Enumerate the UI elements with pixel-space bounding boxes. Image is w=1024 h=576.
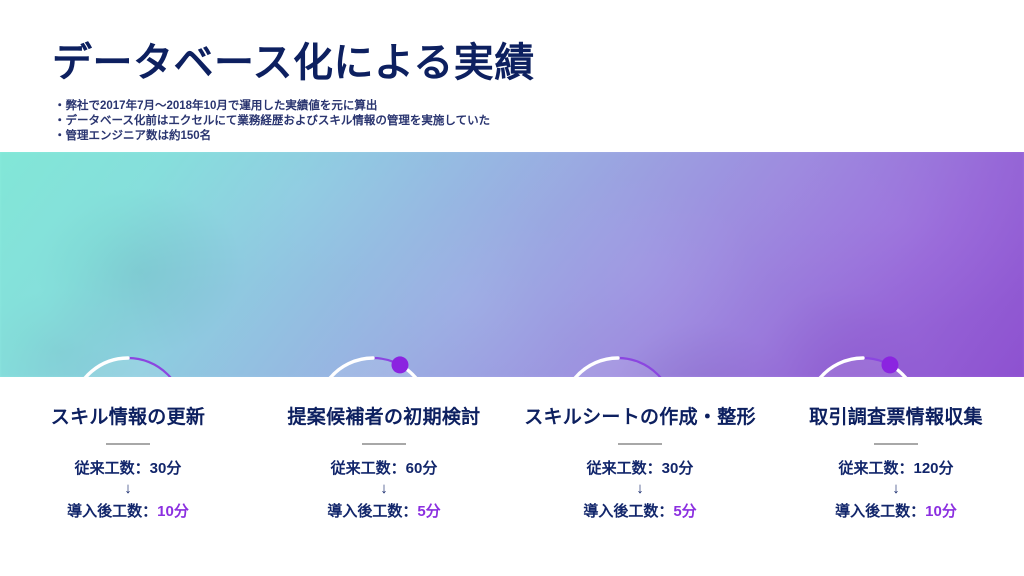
gauge-skill-update: 67% — [66, 352, 190, 377]
column-after-value: 導入後工数：10分 — [0, 500, 256, 521]
gauge-value-label: 92% — [311, 352, 435, 377]
column-after-highlight: 10分 — [157, 503, 189, 520]
column-before-value: 従来工数：30分 — [0, 457, 256, 478]
column-after-value: 導入後工数：5分 — [512, 500, 768, 521]
column-after-value: 導入後工数：10分 — [768, 500, 1024, 521]
header-bullet-list: 弊社で2017年7月～2018年10月で運用した実績値を元に算出 データベース化… — [54, 99, 490, 144]
column-after-highlight: 5分 — [673, 503, 696, 520]
column-divider — [618, 443, 662, 445]
column-after-prefix: 導入後工数： — [67, 503, 157, 520]
bullet-item: 管理エンジニア数は約150名 — [54, 129, 490, 144]
metric-column-skill-update: スキル情報の更新 従来工数：30分 ↓ 導入後工数：10分 — [0, 377, 256, 576]
column-divider — [874, 443, 918, 445]
column-before-value: 従来工数：30分 — [512, 457, 768, 478]
column-title: 提案候補者の初期検討 — [256, 402, 512, 429]
bullet-item: データベース化前はエクセルにて業務経歴およびスキル情報の管理を実施していた — [54, 114, 490, 129]
gauge-value-label: 92% — [801, 352, 925, 377]
gauge-value-label: 83% — [556, 352, 680, 377]
column-before-value: 従来工数：60分 — [256, 457, 512, 478]
metric-columns: スキル情報の更新 従来工数：30分 ↓ 導入後工数：10分 提案候補者の初期検討… — [0, 377, 1024, 576]
column-before-value: 従来工数：120分 — [768, 457, 1024, 478]
column-after-highlight: 5分 — [417, 503, 440, 520]
gauge-candidate-review: 92% — [311, 352, 435, 377]
banner-gradient-overlay — [0, 152, 1024, 377]
down-arrow-icon: ↓ — [768, 479, 1024, 499]
column-after-prefix: 導入後工数： — [835, 503, 925, 520]
column-after-value: 導入後工数：5分 — [256, 500, 512, 521]
down-arrow-icon: ↓ — [256, 479, 512, 499]
down-arrow-icon: ↓ — [512, 479, 768, 499]
column-after-prefix: 導入後工数： — [327, 503, 417, 520]
gauge-survey-collect: 92% — [801, 352, 925, 377]
page-title: データベース化による実績 — [52, 42, 535, 84]
bullet-item: 弊社で2017年7月～2018年10月で運用した実績値を元に算出 — [54, 99, 490, 114]
down-arrow-icon: ↓ — [0, 479, 256, 499]
column-title: スキル情報の更新 — [0, 402, 256, 429]
column-divider — [362, 443, 406, 445]
column-divider — [106, 443, 150, 445]
column-title: スキルシートの作成・整形 — [512, 402, 768, 429]
slide-header: データベース化による実績 弊社で2017年7月～2018年10月で運用した実績値… — [0, 0, 1024, 152]
column-after-highlight: 10分 — [925, 503, 957, 520]
metric-column-skillsheet-create: スキルシートの作成・整形 従来工数：30分 ↓ 導入後工数：5分 — [512, 377, 768, 576]
column-after-prefix: 導入後工数： — [583, 503, 673, 520]
gauge-value-label: 67% — [66, 352, 190, 377]
gauge-skillsheet-create: 83% — [556, 352, 680, 377]
metric-column-survey-collect: 取引調査票情報収集 従来工数：120分 ↓ 導入後工数：10分 — [768, 377, 1024, 576]
gauge-banner: 67% 92% 83% 92% — [0, 152, 1024, 377]
metric-column-candidate-review: 提案候補者の初期検討 従来工数：60分 ↓ 導入後工数：5分 — [256, 377, 512, 576]
column-title: 取引調査票情報収集 — [768, 402, 1024, 429]
